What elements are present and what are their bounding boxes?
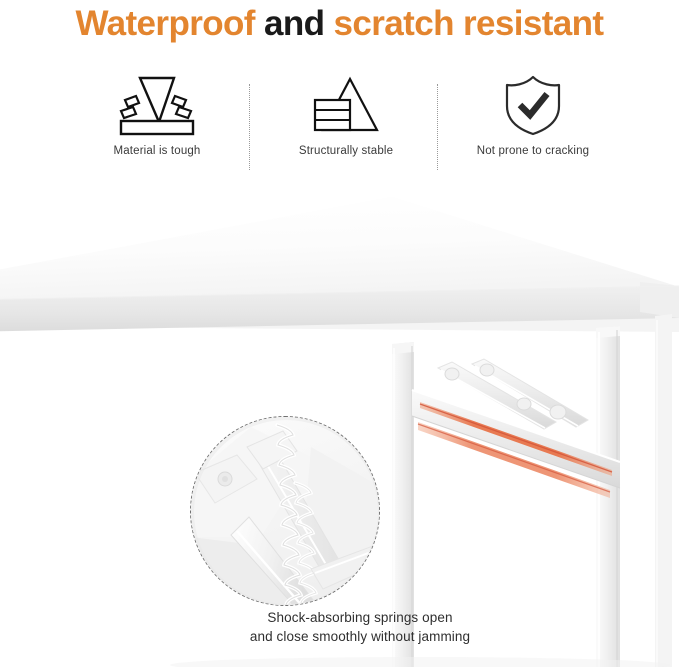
title-segment-waterproof: Waterproof [76,4,264,43]
title-segment-scratch-resistant: scratch resistant [334,4,604,43]
feature-strip: Material is tough Structurally stable [0,72,679,176]
caption-line-2: and close smoothly without jamming [90,627,630,646]
product-photo-folding-desk [0,176,679,667]
pyramid-block-stack-icon [253,72,439,138]
feature-label: Not prone to cracking [440,144,626,159]
page-title: Waterproof and scratch resistant [0,2,679,46]
feature-item-structurally-stable: Structurally stable [253,72,439,176]
feature-item-material-is-tough: Material is tough [64,72,250,176]
impact-chisel-icon [64,72,250,138]
caption-line-1: Shock-absorbing springs open [90,608,630,627]
feature-label: Material is tough [64,144,250,159]
feature-item-not-prone-to-cracking: Not prone to cracking [440,72,626,176]
shield-check-icon [440,72,626,138]
title-segment-and: and [264,4,334,43]
feature-label: Structurally stable [253,144,439,159]
feature-divider [249,84,250,170]
feature-divider [437,84,438,170]
magnifier-caption: Shock-absorbing springs open and close s… [90,608,630,646]
spring-mechanism-magnifier [190,416,380,606]
infographic-page: Waterproof and scratch resistant [0,0,679,667]
